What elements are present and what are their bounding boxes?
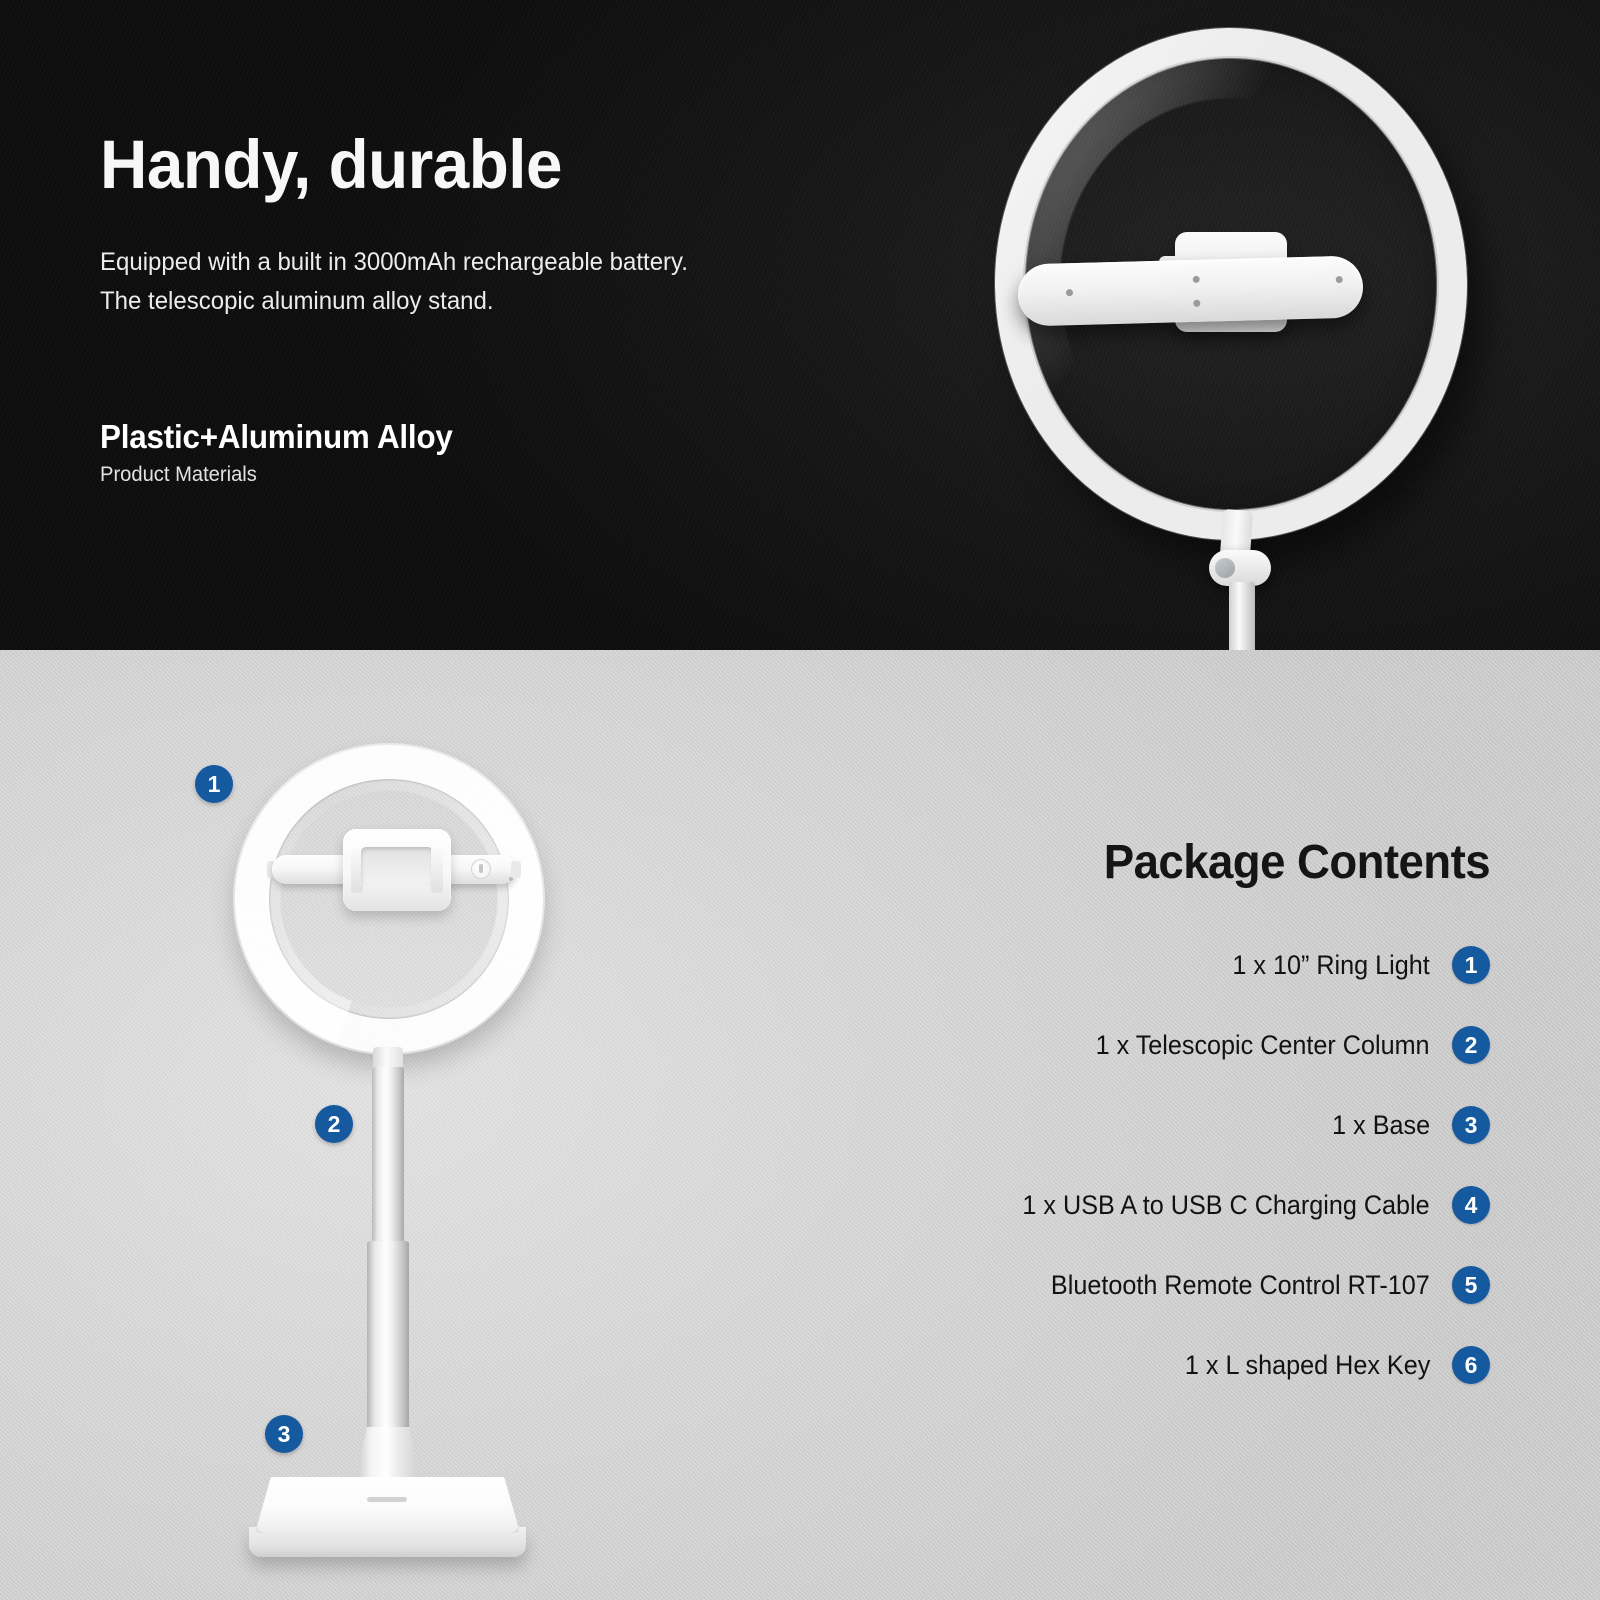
product-infographic: Handy, durable Equipped with a built in …	[0, 0, 1600, 1600]
list-item-label: 1 x Base	[1332, 1110, 1430, 1141]
hero-copy-block: Handy, durable Equipped with a built in …	[100, 130, 860, 321]
power-button-icon	[471, 859, 491, 879]
package-contents-panel: Package Contents 1 x 10” Ring Light 1 1 …	[930, 835, 1490, 1422]
hero-title: Handy, durable	[100, 130, 822, 199]
package-contents-title: Package Contents	[958, 835, 1490, 890]
phone-holder-jaw-right	[431, 845, 443, 893]
base-top	[255, 1477, 520, 1533]
list-item: 1 x USB A to USB C Charging Cable 4	[930, 1182, 1490, 1228]
base-slot	[367, 1497, 407, 1502]
package-contents-section: 1 2 3 4	[0, 650, 1600, 1600]
hero-section: Handy, durable Equipped with a built in …	[0, 0, 1600, 650]
telescopic-column-lower	[367, 1241, 409, 1453]
indicator-dot	[509, 877, 513, 881]
list-item-badge: 4	[1452, 1186, 1490, 1224]
hero-ring-light-image	[985, 10, 1585, 650]
hero-swivel-joint	[1209, 550, 1271, 586]
list-item-label: 1 x USB A to USB C Charging Cable	[1023, 1190, 1430, 1221]
hero-clamp-screw-2	[1193, 276, 1200, 283]
material-value: Plastic+Aluminum Alloy	[100, 418, 765, 456]
list-item-badge: 5	[1452, 1266, 1490, 1304]
package-contents-list: 1 x 10” Ring Light 1 1 x Telescopic Cent…	[930, 942, 1490, 1388]
hero-clamp-bar	[1017, 255, 1364, 326]
column-foot-cone	[355, 1427, 421, 1485]
hero-clamp-screw-4	[1336, 276, 1343, 283]
list-item-badge: 3	[1452, 1106, 1490, 1144]
hero-subtitle: Equipped with a built in 3000mAh recharg…	[100, 243, 830, 321]
hero-clamp-screw-3	[1193, 300, 1200, 307]
list-item-label: 1 x 10” Ring Light	[1233, 950, 1430, 981]
list-item-label: Bluetooth Remote Control RT-107	[1051, 1270, 1430, 1301]
callout-3-base: 3	[265, 1415, 303, 1453]
list-item: 1 x 10” Ring Light 1	[930, 942, 1490, 988]
list-item-label: 1 x Telescopic Center Column	[1096, 1030, 1430, 1061]
list-item-label: 1 x L shaped Hex Key	[1185, 1350, 1430, 1381]
list-item: 1 x Telescopic Center Column 2	[930, 1022, 1490, 1068]
clamp-arm-right-tip	[511, 861, 521, 878]
list-item: Bluetooth Remote Control RT-107 5	[930, 1262, 1490, 1308]
list-item-badge: 2	[1452, 1026, 1490, 1064]
material-spec-block: Plastic+Aluminum Alloy Product Materials	[100, 418, 800, 487]
phone-holder-slot	[361, 847, 433, 885]
list-item-badge: 6	[1452, 1346, 1490, 1384]
list-item: 1 x Base 3	[930, 1102, 1490, 1148]
hero-subtitle-line-1: Equipped with a built in 3000mAh recharg…	[100, 243, 830, 282]
telescopic-column-upper	[372, 1067, 404, 1247]
hero-subtitle-line-2: The telescopic aluminum alloy stand.	[100, 282, 830, 321]
hero-support-pole	[1229, 582, 1255, 650]
material-label: Product Materials	[100, 463, 772, 487]
callout-2-center-column: 2	[315, 1105, 353, 1143]
list-item: 1 x L shaped Hex Key 6	[930, 1342, 1490, 1388]
callout-1-ring-light: 1	[195, 765, 233, 803]
list-item-badge: 1	[1452, 946, 1490, 984]
assembled-stand-image: 1 2 3	[195, 685, 615, 1585]
hero-clamp-screw-1	[1066, 289, 1073, 296]
